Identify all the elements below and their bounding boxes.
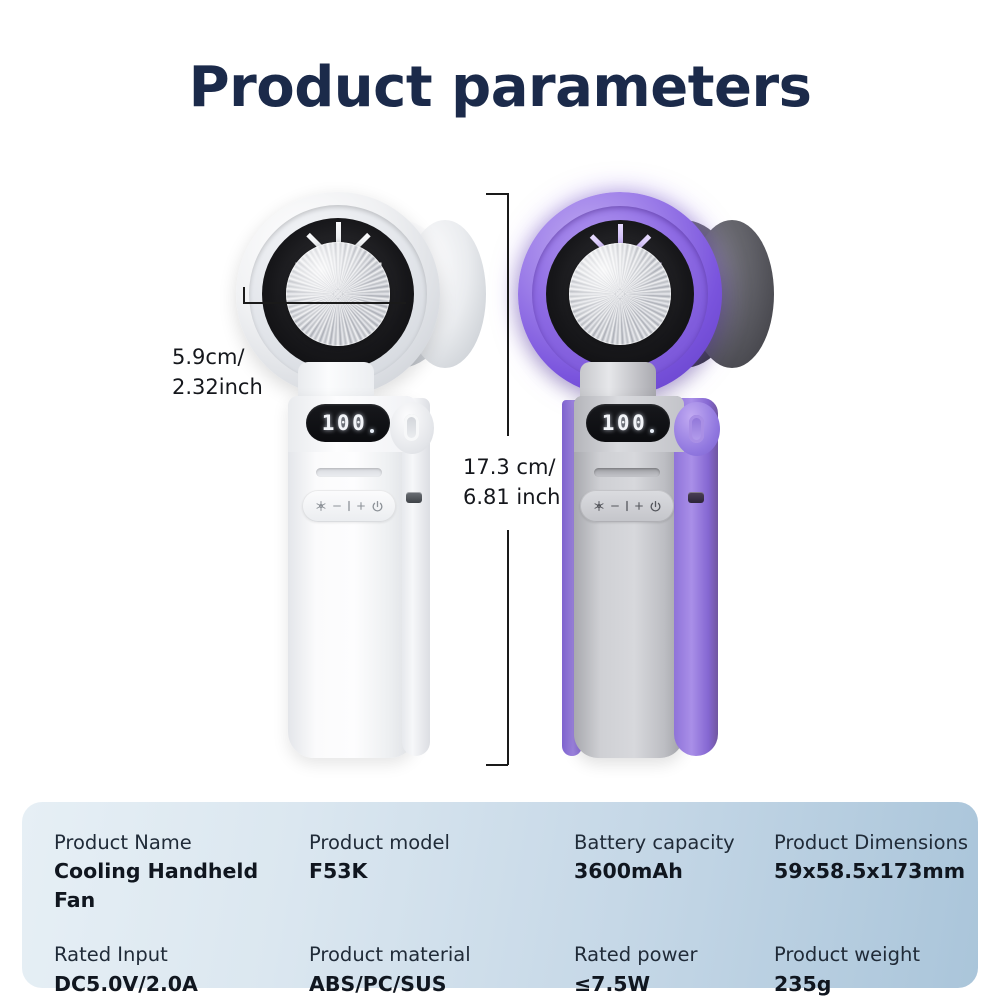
divider-icon <box>347 500 351 512</box>
usb-c-port-white <box>406 492 422 503</box>
control-button-pad-white[interactable] <box>302 490 396 522</box>
handle-white: 100 <box>282 396 430 758</box>
page-title: Product parameters <box>0 55 1000 120</box>
spec-label: Product model <box>309 828 564 857</box>
spec-product-name: Product Name Cooling Handheld Fan <box>54 828 309 915</box>
spec-product-dimensions: Product Dimensions 59x58.5x173mm <box>774 828 1000 915</box>
specifications-panel: Product Name Cooling Handheld Fan Produc… <box>22 802 978 988</box>
spec-value: DC5.0V/2.0A <box>54 970 299 999</box>
spec-label: Rated Input <box>54 940 299 969</box>
screen-indicator-dot-purple <box>650 429 654 433</box>
spec-label: Battery capacity <box>574 828 764 857</box>
fan-hub-gloss-white <box>286 242 390 346</box>
spec-label: Product Name <box>54 828 299 857</box>
snowflake-icon[interactable] <box>315 500 327 512</box>
product-white-variant: 100 <box>236 192 486 762</box>
spec-value: F53K <box>309 857 564 886</box>
spec-value: ≤7.5W <box>574 970 764 999</box>
spec-rated-input: Rated Input DC5.0V/2.0A <box>54 940 309 1000</box>
lanyard-loop-hole-white <box>404 414 419 441</box>
power-icon[interactable] <box>649 500 662 513</box>
height-dimension-cm: 17.3 cm/ <box>463 452 560 482</box>
width-dimension-cm: 5.9cm/ <box>172 342 263 372</box>
minus-icon[interactable] <box>332 501 342 511</box>
width-dimension-tick <box>243 287 245 303</box>
lanyard-loop-hole-purple <box>689 415 704 443</box>
battery-display-screen: 100 <box>306 404 390 442</box>
spec-value: ABS/PC/SUS Electronic components <box>309 970 564 1000</box>
fan-hub-white <box>286 242 390 346</box>
control-button-pad-purple[interactable] <box>580 490 674 522</box>
handle-purple: 100 <box>562 396 718 758</box>
spec-product-material: Product material ABS/PC/SUS Electronic c… <box>309 940 574 1000</box>
battery-percent-value-purple: 100 <box>602 411 647 435</box>
spec-label: Product weight <box>774 940 1000 969</box>
snowflake-icon[interactable] <box>593 500 605 512</box>
spec-product-weight: Product weight 235g <box>774 940 1000 1000</box>
battery-percent-value: 100 <box>322 411 367 435</box>
height-dimension-top-tick <box>486 193 508 195</box>
height-dimension-inch: 6.81 inch <box>463 482 560 512</box>
spec-value: 59x58.5x173mm <box>774 857 1000 886</box>
spec-value: 3600mAh <box>574 857 764 886</box>
spec-value: Cooling Handheld Fan <box>54 857 299 915</box>
spec-rated-power: Rated power ≤7.5W <box>574 940 774 1000</box>
height-dimension-upper-line <box>507 193 509 436</box>
spec-label: Product Dimensions <box>774 828 1000 857</box>
spec-label: Product material <box>309 940 564 969</box>
minus-icon[interactable] <box>610 501 620 511</box>
screen-indicator-dot <box>370 429 374 433</box>
grille-slot-white <box>316 468 382 477</box>
height-dimension-label: 17.3 cm/ 6.81 inch <box>463 452 560 513</box>
grille-slot-purple <box>594 468 660 477</box>
spec-product-model: Product model F53K <box>309 828 574 915</box>
spec-label: Rated power <box>574 940 764 969</box>
width-dimension-label: 5.9cm/ 2.32inch <box>172 342 263 403</box>
divider-icon <box>625 500 629 512</box>
width-dimension-line <box>243 302 406 304</box>
width-dimension-inch: 2.32inch <box>172 372 263 402</box>
plus-icon[interactable] <box>634 501 644 511</box>
plus-icon[interactable] <box>356 501 366 511</box>
fan-hub-gloss-purple <box>569 243 671 345</box>
spec-battery-capacity: Battery capacity 3600mAh <box>574 828 774 915</box>
product-parameters-page: Product parameters <box>0 0 1000 1000</box>
usb-c-port-purple <box>688 492 704 503</box>
spec-value: 235g <box>774 970 1000 999</box>
power-icon[interactable] <box>371 500 384 513</box>
height-dimension-lower-line <box>507 530 509 765</box>
fan-hub-purple <box>569 243 671 345</box>
height-dimension-bottom-tick <box>486 764 508 766</box>
battery-display-screen-purple: 100 <box>586 404 670 442</box>
